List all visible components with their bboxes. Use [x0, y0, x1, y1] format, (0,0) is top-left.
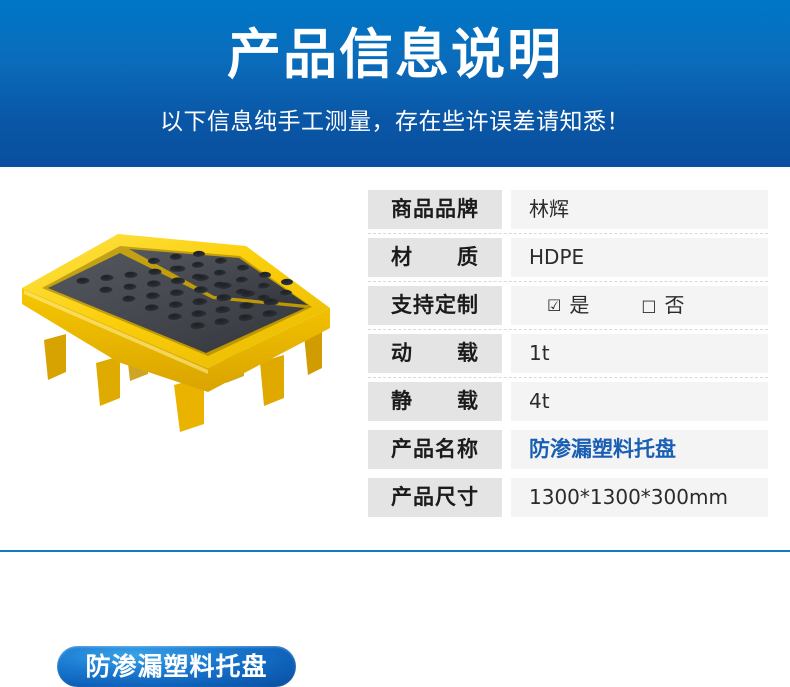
choice-yes[interactable]: ☑ 是 — [547, 286, 589, 325]
spec-value-customization: ☑ 是 □ 否 — [511, 286, 768, 325]
checkbox-unchecked-icon[interactable]: □ — [641, 298, 656, 314]
page-subtitle: 以下信息纯手工测量，存在些许误差请知悉！ — [0, 106, 790, 138]
checkbox-checked-icon[interactable]: ☑ — [547, 298, 561, 314]
cell-gap — [502, 430, 511, 469]
cell-gap — [502, 334, 511, 373]
table-row: 支持定制 ☑ 是 □ 否 — [368, 286, 768, 325]
spec-label-customization: 支持定制 — [368, 286, 502, 325]
header-banner: 产品信息说明 以下信息纯手工测量，存在些许误差请知悉！ — [0, 0, 790, 167]
choice-no-label: 否 — [664, 286, 684, 325]
product-photo — [8, 222, 348, 447]
spec-value-product-size: 1300*1300*300mm — [511, 478, 768, 517]
spec-label-product-size: 产品尺寸 — [368, 478, 502, 517]
table-row: 动 载 1t — [368, 334, 768, 373]
cell-gap — [502, 238, 511, 277]
cell-gap — [502, 190, 511, 229]
cell-gap — [502, 382, 511, 421]
bottom-divider — [0, 550, 790, 552]
page-title: 产品信息说明 — [0, 24, 790, 86]
cell-gap — [502, 478, 511, 517]
spec-label-brand: 商品品牌 — [368, 190, 502, 229]
spec-label-static-load: 静 载 — [368, 382, 502, 421]
spec-label-dynamic-load: 动 载 — [368, 334, 502, 373]
table-row: 材 质 HDPE — [368, 238, 768, 277]
spec-value-material: HDPE — [511, 238, 768, 277]
choice-yes-label: 是 — [569, 286, 589, 325]
choice-no[interactable]: □ 否 — [641, 286, 684, 325]
spec-table: 商品品牌 林辉 材 质 HDPE 支持定制 ☑ 是 □ 否 动 载 — [368, 190, 768, 526]
product-image-pane: 防渗漏塑料托盘 — [0, 167, 352, 553]
spec-value-brand: 林辉 — [511, 190, 768, 229]
spec-label-material: 材 质 — [368, 238, 502, 277]
spec-value-dynamic-load: 1t — [511, 334, 768, 373]
spec-value-static-load: 4t — [511, 382, 768, 421]
pallet-illustration — [8, 222, 348, 447]
table-row: 产品名称 防渗漏塑料托盘 — [368, 430, 768, 469]
customization-choices: ☑ 是 □ 否 — [529, 286, 768, 325]
product-badge: 防渗漏塑料托盘 — [57, 646, 296, 687]
table-row: 静 载 4t — [368, 382, 768, 421]
cell-gap — [502, 286, 511, 325]
spec-label-product-name: 产品名称 — [368, 430, 502, 469]
table-row: 产品尺寸 1300*1300*300mm — [368, 478, 768, 517]
spec-value-product-name: 防渗漏塑料托盘 — [511, 430, 768, 469]
table-row: 商品品牌 林辉 — [368, 190, 768, 229]
